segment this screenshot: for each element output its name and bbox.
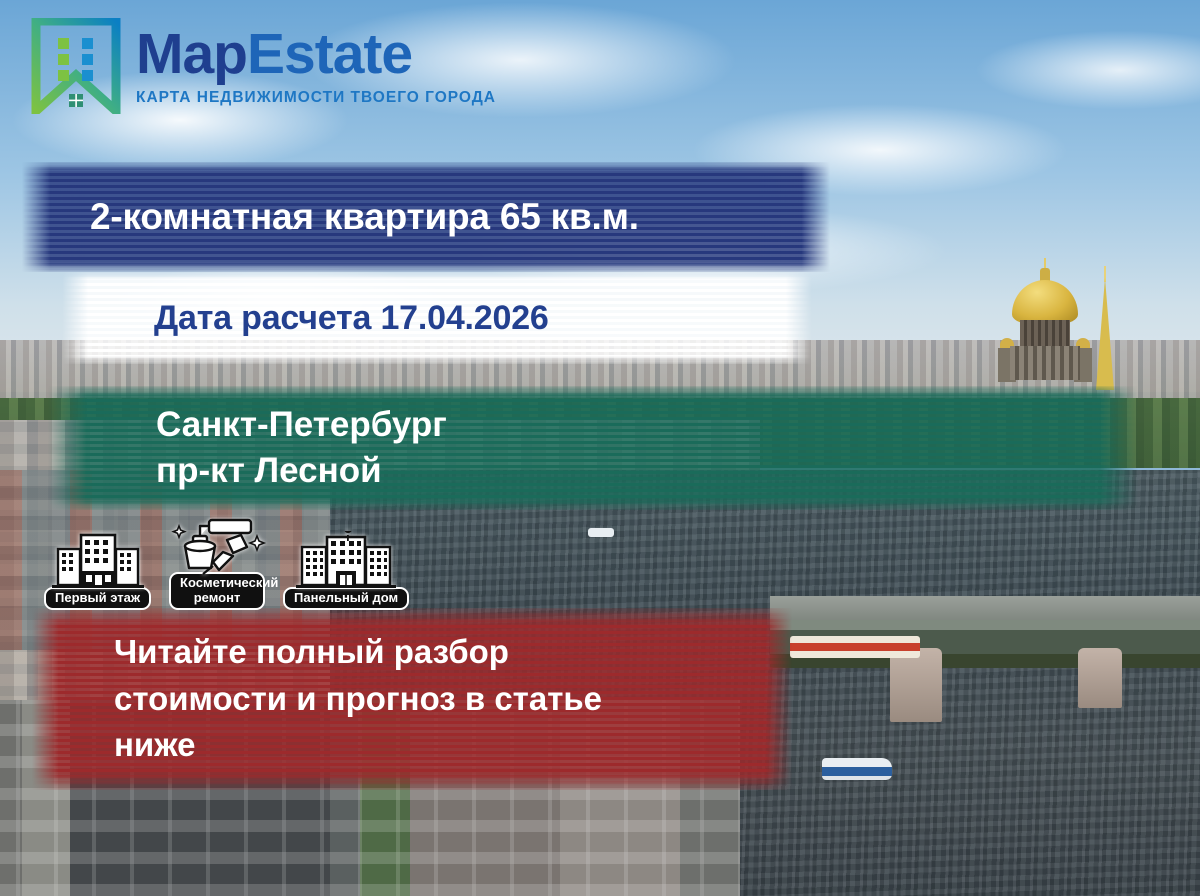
calculation-date-banner: Дата расчета 17.04.2026 (62, 272, 812, 364)
address-street: пр-кт Лесной (156, 448, 447, 494)
paint-roller-icon (165, 516, 269, 578)
feature-badge-first-floor: Первый этаж (44, 531, 151, 611)
brand-tagline: КАРТА НЕДВИЖИМОСТИ ТВОЕГО ГОРОДА (136, 89, 496, 107)
bridge-truss (770, 620, 1200, 710)
calculation-date-text: Дата расчета 17.04.2026 (62, 299, 549, 338)
feature-badge-cosmetic-renovation: Косметический ремонт (165, 516, 269, 610)
cta-text: Читайте полный разбор стоимости и прогно… (32, 629, 602, 770)
cta-line-2: стоимости и прогноз в статье (114, 676, 602, 723)
cta-banner: Читайте полный разбор стоимости и прогно… (32, 608, 792, 790)
address-city: Санкт-Петербург (156, 402, 447, 448)
st-isaacs-cathedral-icon (1000, 262, 1090, 392)
cta-line-1: Читайте полный разбор (114, 629, 602, 676)
property-title-banner: 2-комнатная квартира 65 кв.м. (22, 162, 830, 272)
feature-badge-panel-house: Панельный дом (283, 531, 409, 611)
admiralty-spire-icon (1096, 278, 1114, 390)
boat-icon (822, 758, 892, 780)
boat-icon (588, 528, 614, 537)
brand-name: MapEstate (136, 26, 496, 83)
feature-badges: Первый этаж Косметический ремонт (44, 516, 409, 610)
bookmark-building-icon (30, 18, 122, 114)
building-icon (50, 531, 146, 593)
tram-icon (790, 636, 920, 658)
bridge-pier (1078, 648, 1122, 708)
bridge-pier (890, 648, 942, 722)
cta-line-3: ниже (114, 722, 602, 769)
brand-name-part2: Estate (247, 22, 412, 86)
panel-house-icon (296, 531, 396, 593)
brand-logo[interactable]: MapEstate КАРТА НЕДВИЖИМОСТИ ТВОЕГО ГОРО… (30, 18, 496, 114)
address-text: Санкт-Петербург пр-кт Лесной (48, 402, 447, 494)
property-title-text: 2-комнатная квартира 65 кв.м. (22, 196, 639, 238)
brand-name-part1: Map (136, 22, 247, 86)
address-banner: Санкт-Петербург пр-кт Лесной (48, 386, 1138, 510)
